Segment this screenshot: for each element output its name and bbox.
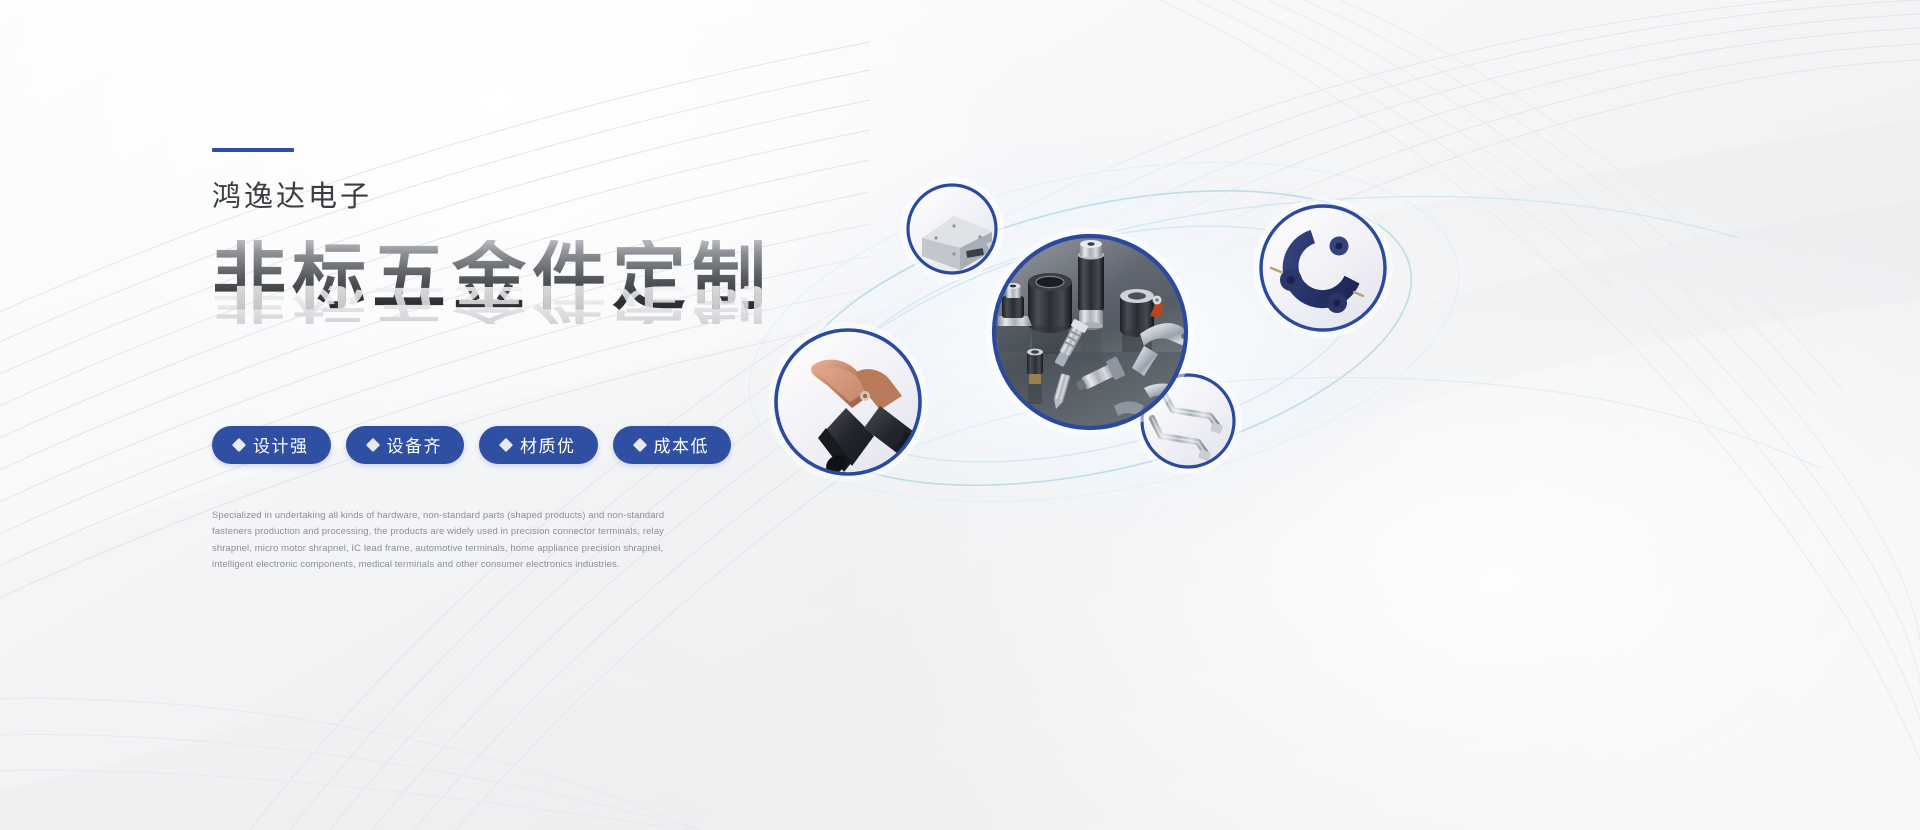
feature-pill-design[interactable]: 设计强 — [212, 426, 331, 464]
diamond-icon — [499, 438, 513, 452]
feature-pill-label: 设计强 — [253, 432, 309, 457]
product-circle-retaining-clip[interactable] — [1253, 198, 1393, 338]
feature-pill-cost[interactable]: 成本低 — [613, 426, 732, 464]
feature-pill-equipment[interactable]: 设备齐 — [346, 426, 465, 464]
product-circle-metal-enclosure-box[interactable] — [900, 177, 1004, 281]
headline-reflection: 非标五金件定制 — [212, 283, 772, 324]
description-paragraph: Specialized in undertaking all kinds of … — [212, 508, 682, 573]
feature-pill-label: 设备齐 — [387, 432, 443, 457]
product-circle-machined-parts-group[interactable] — [986, 228, 1194, 436]
feature-pill-label: 成本低 — [654, 432, 710, 457]
diamond-icon — [365, 438, 379, 452]
diamond-icon — [632, 438, 646, 452]
hero-banner: 鸿逸达电子 非标五金件定制 非标五金件定制 设计强 设备齐 材质优 成本低 — [0, 0, 1920, 830]
feature-pill-material[interactable]: 材质优 — [479, 426, 598, 464]
product-showcase — [740, 120, 1920, 590]
accent-bar — [212, 148, 294, 152]
feature-pill-label: 材质优 — [520, 432, 576, 457]
diamond-icon — [232, 438, 246, 452]
